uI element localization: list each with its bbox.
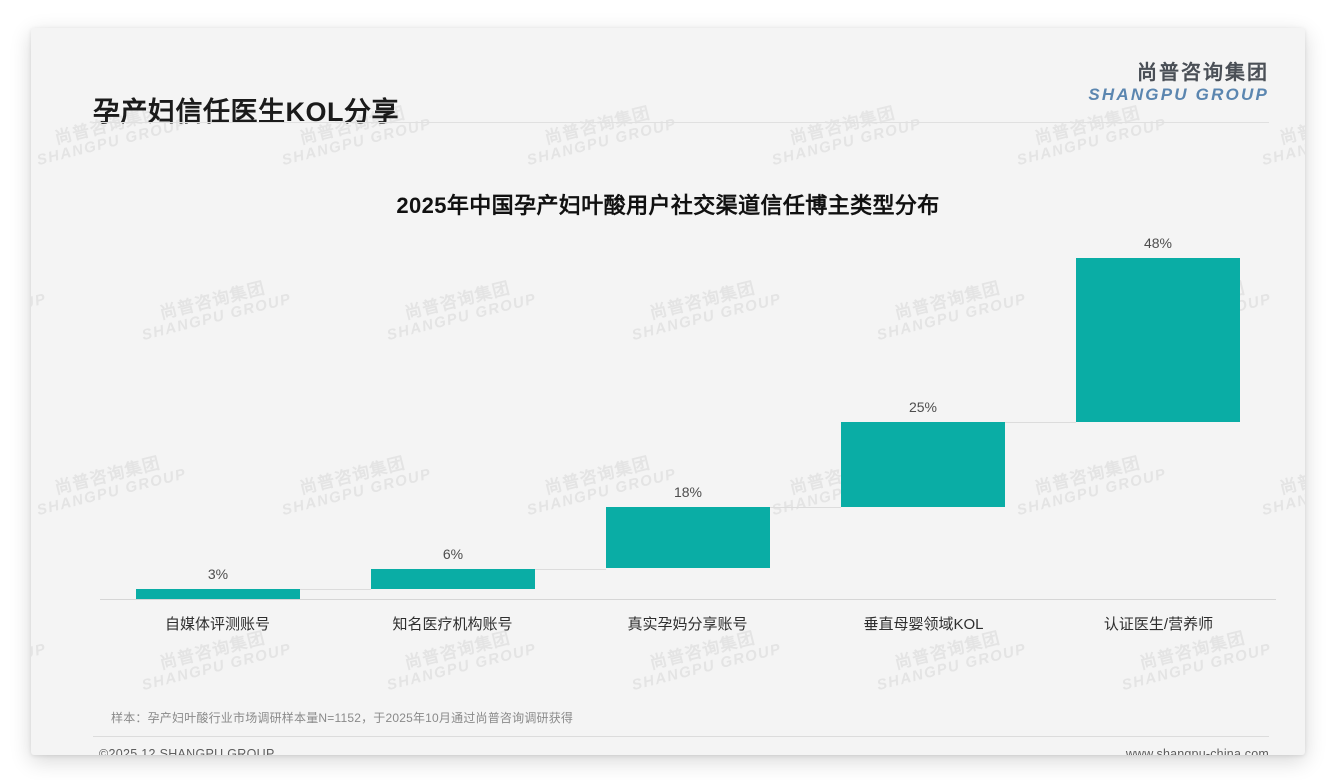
bar-value-label: 18%: [606, 484, 770, 500]
chart-bar[interactable]: [606, 507, 770, 568]
watermark-text-en: SHANGPU GROUP: [525, 116, 678, 168]
watermark-text-en: SHANGPU GROUP: [875, 641, 1028, 693]
chart-bar[interactable]: [1076, 258, 1240, 422]
watermark-text: 尚普咨询集团SHANGPU GROUP: [31, 624, 48, 694]
slide-card: 尚普咨询集团SHANGPU GROUP尚普咨询集团SHANGPU GROUP尚普…: [31, 28, 1305, 755]
brand-name-cn: 尚普咨询集团: [1088, 62, 1269, 85]
watermark-text-en: SHANGPU GROUP: [1015, 116, 1168, 168]
x-axis-tick-label: 真实孕妈分享账号: [570, 613, 805, 634]
x-axis-tick-label: 知名医疗机构账号: [335, 613, 570, 634]
footer-website: www.shangpu-china.com: [1126, 747, 1269, 755]
watermark-text-en: SHANGPU GROUP: [31, 291, 48, 343]
waterfall-connector: [535, 569, 606, 570]
x-axis-line: [100, 599, 1276, 600]
x-axis-tick-label: 自媒体评测账号: [100, 613, 335, 634]
footer-divider: [93, 736, 1269, 737]
chart-footnote: 样本：孕产妇叶酸行业市场调研样本量N=1152，于2025年10月通过尚普咨询调…: [111, 709, 573, 726]
brand-logo: 尚普咨询集团 SHANGPU GROUP: [1088, 62, 1269, 105]
footer-copyright: ©2025.12 SHANGPU GROUP: [99, 747, 275, 755]
page-title: 孕产妇信任医生KOL分享: [93, 90, 399, 129]
waterfall-connector: [770, 507, 841, 508]
bar-value-label: 48%: [1076, 235, 1240, 251]
waterfall-connector: [1005, 422, 1076, 423]
waterfall-connector: [300, 589, 371, 590]
watermark-text: 尚普咨询集团SHANGPU GROUP: [31, 274, 48, 344]
watermark-text-en: SHANGPU GROUP: [140, 641, 293, 693]
brand-name-en: SHANGPU GROUP: [1088, 85, 1269, 105]
waterfall-chart: 3%6%18%25%48% 自媒体评测账号知名医疗机构账号真实孕妈分享账号垂直母…: [100, 250, 1276, 640]
watermark-text-cn: 尚普咨询集团: [31, 274, 44, 328]
bar-value-label: 6%: [371, 546, 535, 562]
watermark-text-en: SHANGPU GROUP: [1260, 116, 1305, 168]
header-divider: [93, 122, 1269, 123]
watermark-text-cn: 尚普咨询集团: [31, 624, 44, 678]
watermark-text-en: SHANGPU GROUP: [1120, 641, 1273, 693]
x-axis-tick-label: 认证医生/营养师: [1041, 613, 1276, 634]
chart-bar[interactable]: [136, 589, 300, 599]
watermark-text-en: SHANGPU GROUP: [31, 641, 48, 693]
watermark-text-en: SHANGPU GROUP: [385, 641, 538, 693]
chart-plot-area: 3%6%18%25%48%: [100, 250, 1276, 600]
watermark-text-en: SHANGPU GROUP: [770, 116, 923, 168]
chart-title: 2025年中国孕产妇叶酸用户社交渠道信任博主类型分布: [31, 188, 1305, 220]
chart-bar[interactable]: [371, 569, 535, 589]
x-axis-category-labels: 自媒体评测账号知名医疗机构账号真实孕妈分享账号垂直母婴领域KOL认证医生/营养师: [100, 605, 1276, 641]
chart-bar[interactable]: [841, 422, 1005, 507]
bar-value-label: 25%: [841, 399, 1005, 415]
bar-value-label: 3%: [136, 566, 300, 582]
watermark-text-en: SHANGPU GROUP: [630, 641, 783, 693]
slide-header: 孕产妇信任医生KOL分享 尚普咨询集团 SHANGPU GROUP: [31, 28, 1305, 122]
x-axis-tick-label: 垂直母婴领域KOL: [806, 613, 1041, 634]
